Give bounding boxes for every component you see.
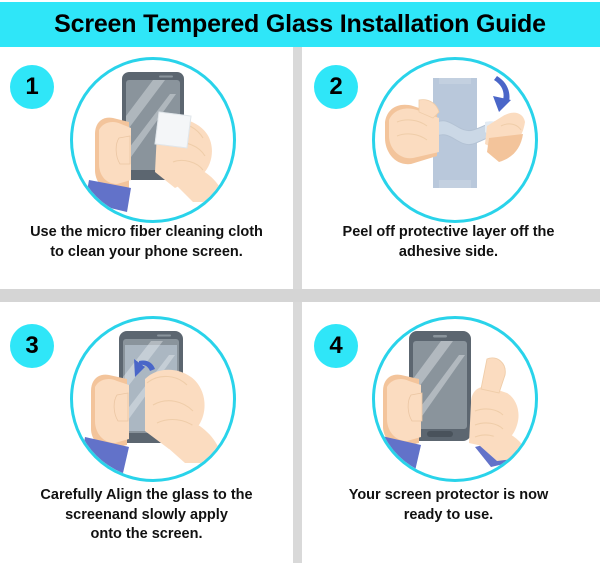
caption-line: adhesive side. — [310, 243, 587, 263]
step-caption-2: Peel off protective layer off the adhesi… — [310, 223, 587, 262]
horizontal-divider — [0, 289, 600, 302]
step-number-badge: 4 — [314, 324, 358, 368]
caption-line: Use the micro fiber cleaning cloth — [8, 223, 285, 243]
caption-line: to clean your phone screen. — [8, 243, 285, 263]
caption-line: Carefully Align the glass to the — [8, 486, 285, 506]
vertical-divider — [293, 47, 302, 563]
steps-grid: 1 — [0, 47, 600, 563]
page-title: Screen Tempered Glass Installation Guide — [54, 12, 546, 37]
step-panel-4: 4 — [302, 302, 595, 563]
caption-line: Your screen protector is now — [310, 486, 587, 506]
step-illustration-ring-2 — [372, 57, 538, 223]
step-panel-2: 2 — [302, 47, 595, 289]
step-caption-3: Carefully Align the glass to the screena… — [8, 486, 285, 545]
step-number-badge: 3 — [10, 324, 54, 368]
header-banner: Screen Tempered Glass Installation Guide — [0, 2, 600, 47]
step-number-badge: 1 — [10, 65, 54, 109]
step-illustration-ring-1 — [70, 57, 236, 223]
step-panel-3: 3 — [0, 302, 293, 563]
step-caption-1: Use the micro fiber cleaning cloth to cl… — [8, 223, 285, 262]
step-illustration-ring-4 — [372, 316, 538, 482]
two-hands-peeling-protective-film-icon — [375, 60, 535, 220]
hand-holding-phone-with-cleaning-cloth-icon — [73, 60, 233, 220]
step-panel-1: 1 — [0, 47, 293, 289]
caption-line: onto the screen. — [8, 525, 285, 545]
step-illustration-ring-3 — [70, 316, 236, 482]
hand-applying-glass-to-phone-screen-icon — [73, 319, 233, 479]
step-number-badge: 2 — [314, 65, 358, 109]
step-caption-4: Your screen protector is now ready to us… — [310, 486, 587, 525]
hand-holding-phone-with-thumbs-up-icon — [375, 319, 535, 479]
caption-line: ready to use. — [310, 506, 587, 526]
caption-line: Peel off protective layer off the — [310, 223, 587, 243]
caption-line: screenand slowly apply — [8, 506, 285, 526]
infographic-page: Screen Tempered Glass Installation Guide… — [0, 0, 600, 563]
